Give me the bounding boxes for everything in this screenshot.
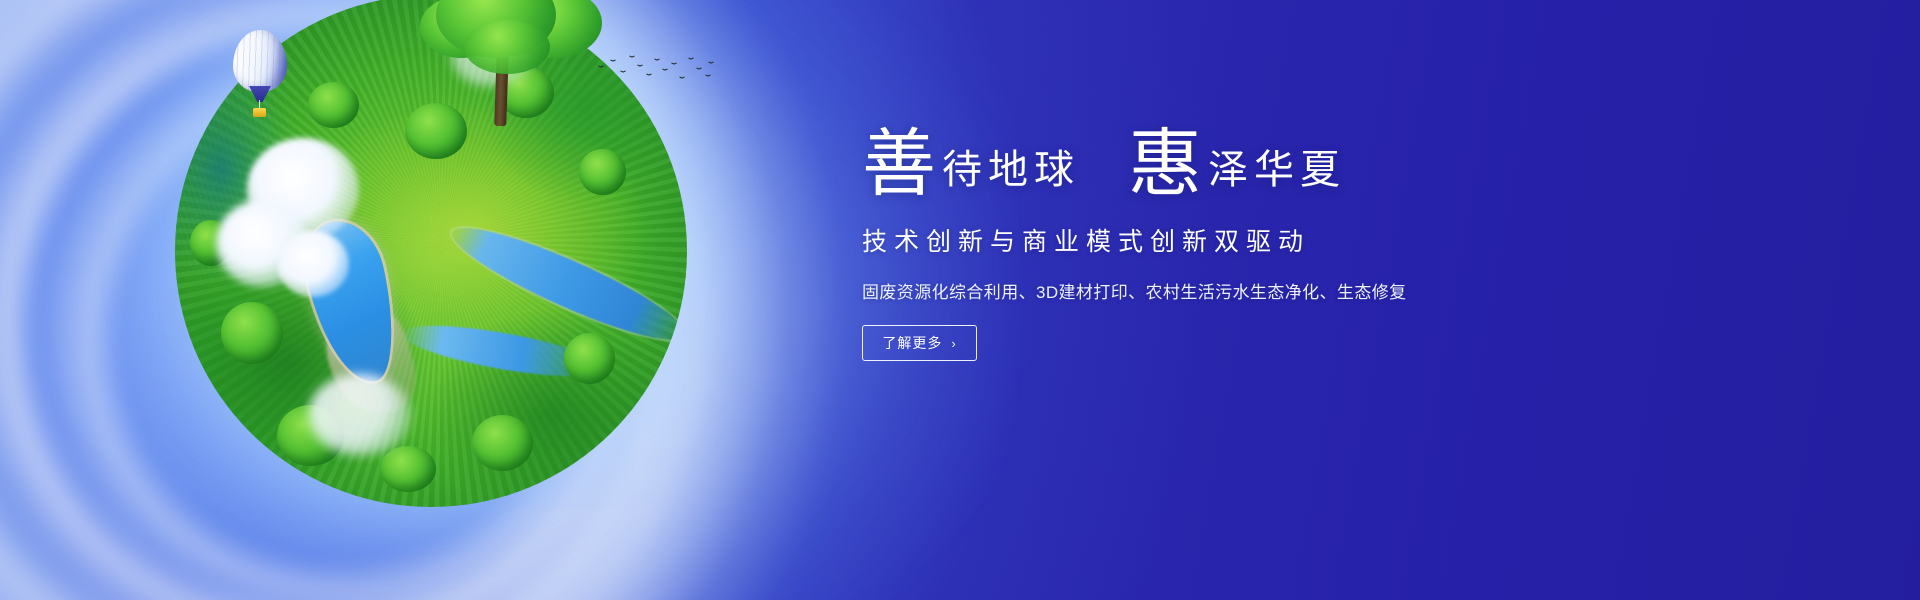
bird-icon (610, 60, 616, 64)
balloon-envelope (233, 30, 287, 92)
bird-icon (679, 77, 685, 81)
balloon-skirt (249, 86, 271, 102)
balloon-basket (253, 108, 266, 117)
tree-canopy (464, 20, 550, 74)
learn-more-label: 了解更多 (882, 333, 942, 353)
bird-icon (671, 63, 677, 67)
headline: 善 待地球 惠 泽华夏 (862, 122, 1562, 196)
subtitle: 技术创新与商业模式创新双驱动 (862, 222, 1562, 258)
bird-icon (646, 74, 652, 78)
tree-icon (221, 302, 282, 363)
bird-icon (598, 66, 604, 70)
chevron-right-icon: › (951, 337, 956, 350)
bird-icon (688, 58, 694, 62)
bird-icon (696, 68, 702, 72)
headline-part1-primary: 善 (862, 128, 936, 202)
hot-air-balloon-icon (233, 30, 287, 116)
headline-part1-secondary: 待地球 (942, 150, 1080, 190)
headline-part2-secondary: 泽华夏 (1208, 150, 1346, 190)
bird-icon (662, 69, 668, 73)
cloud-icon (308, 374, 410, 456)
bird-icon (705, 75, 711, 79)
bird-icon (629, 56, 635, 60)
tree-icon (472, 415, 533, 471)
bird-icon (708, 62, 714, 66)
tree-icon (380, 446, 436, 492)
headline-part2-primary: 惠 (1128, 128, 1202, 202)
tree-icon (564, 333, 615, 384)
hero-tree-icon (420, 0, 610, 128)
bird-flock-icon (596, 52, 716, 88)
hero-banner: 善 待地球 惠 泽华夏 技术创新与商业模式创新双驱动 固废资源化综合利用、3D建… (0, 0, 1920, 600)
hero-copy: 善 待地球 惠 泽华夏 技术创新与商业模式创新双驱动 固废资源化综合利用、3D建… (862, 122, 1562, 361)
bird-icon (637, 65, 643, 69)
learn-more-button[interactable]: 了解更多 › (862, 325, 977, 361)
bird-icon (620, 71, 626, 75)
bird-icon (654, 59, 660, 63)
tree-icon (308, 82, 359, 128)
tree-icon (579, 149, 625, 195)
cloud-icon (277, 231, 349, 298)
description: 固废资源化综合利用、3D建材打印、农村生活污水生态净化、生态修复 (862, 278, 1562, 303)
